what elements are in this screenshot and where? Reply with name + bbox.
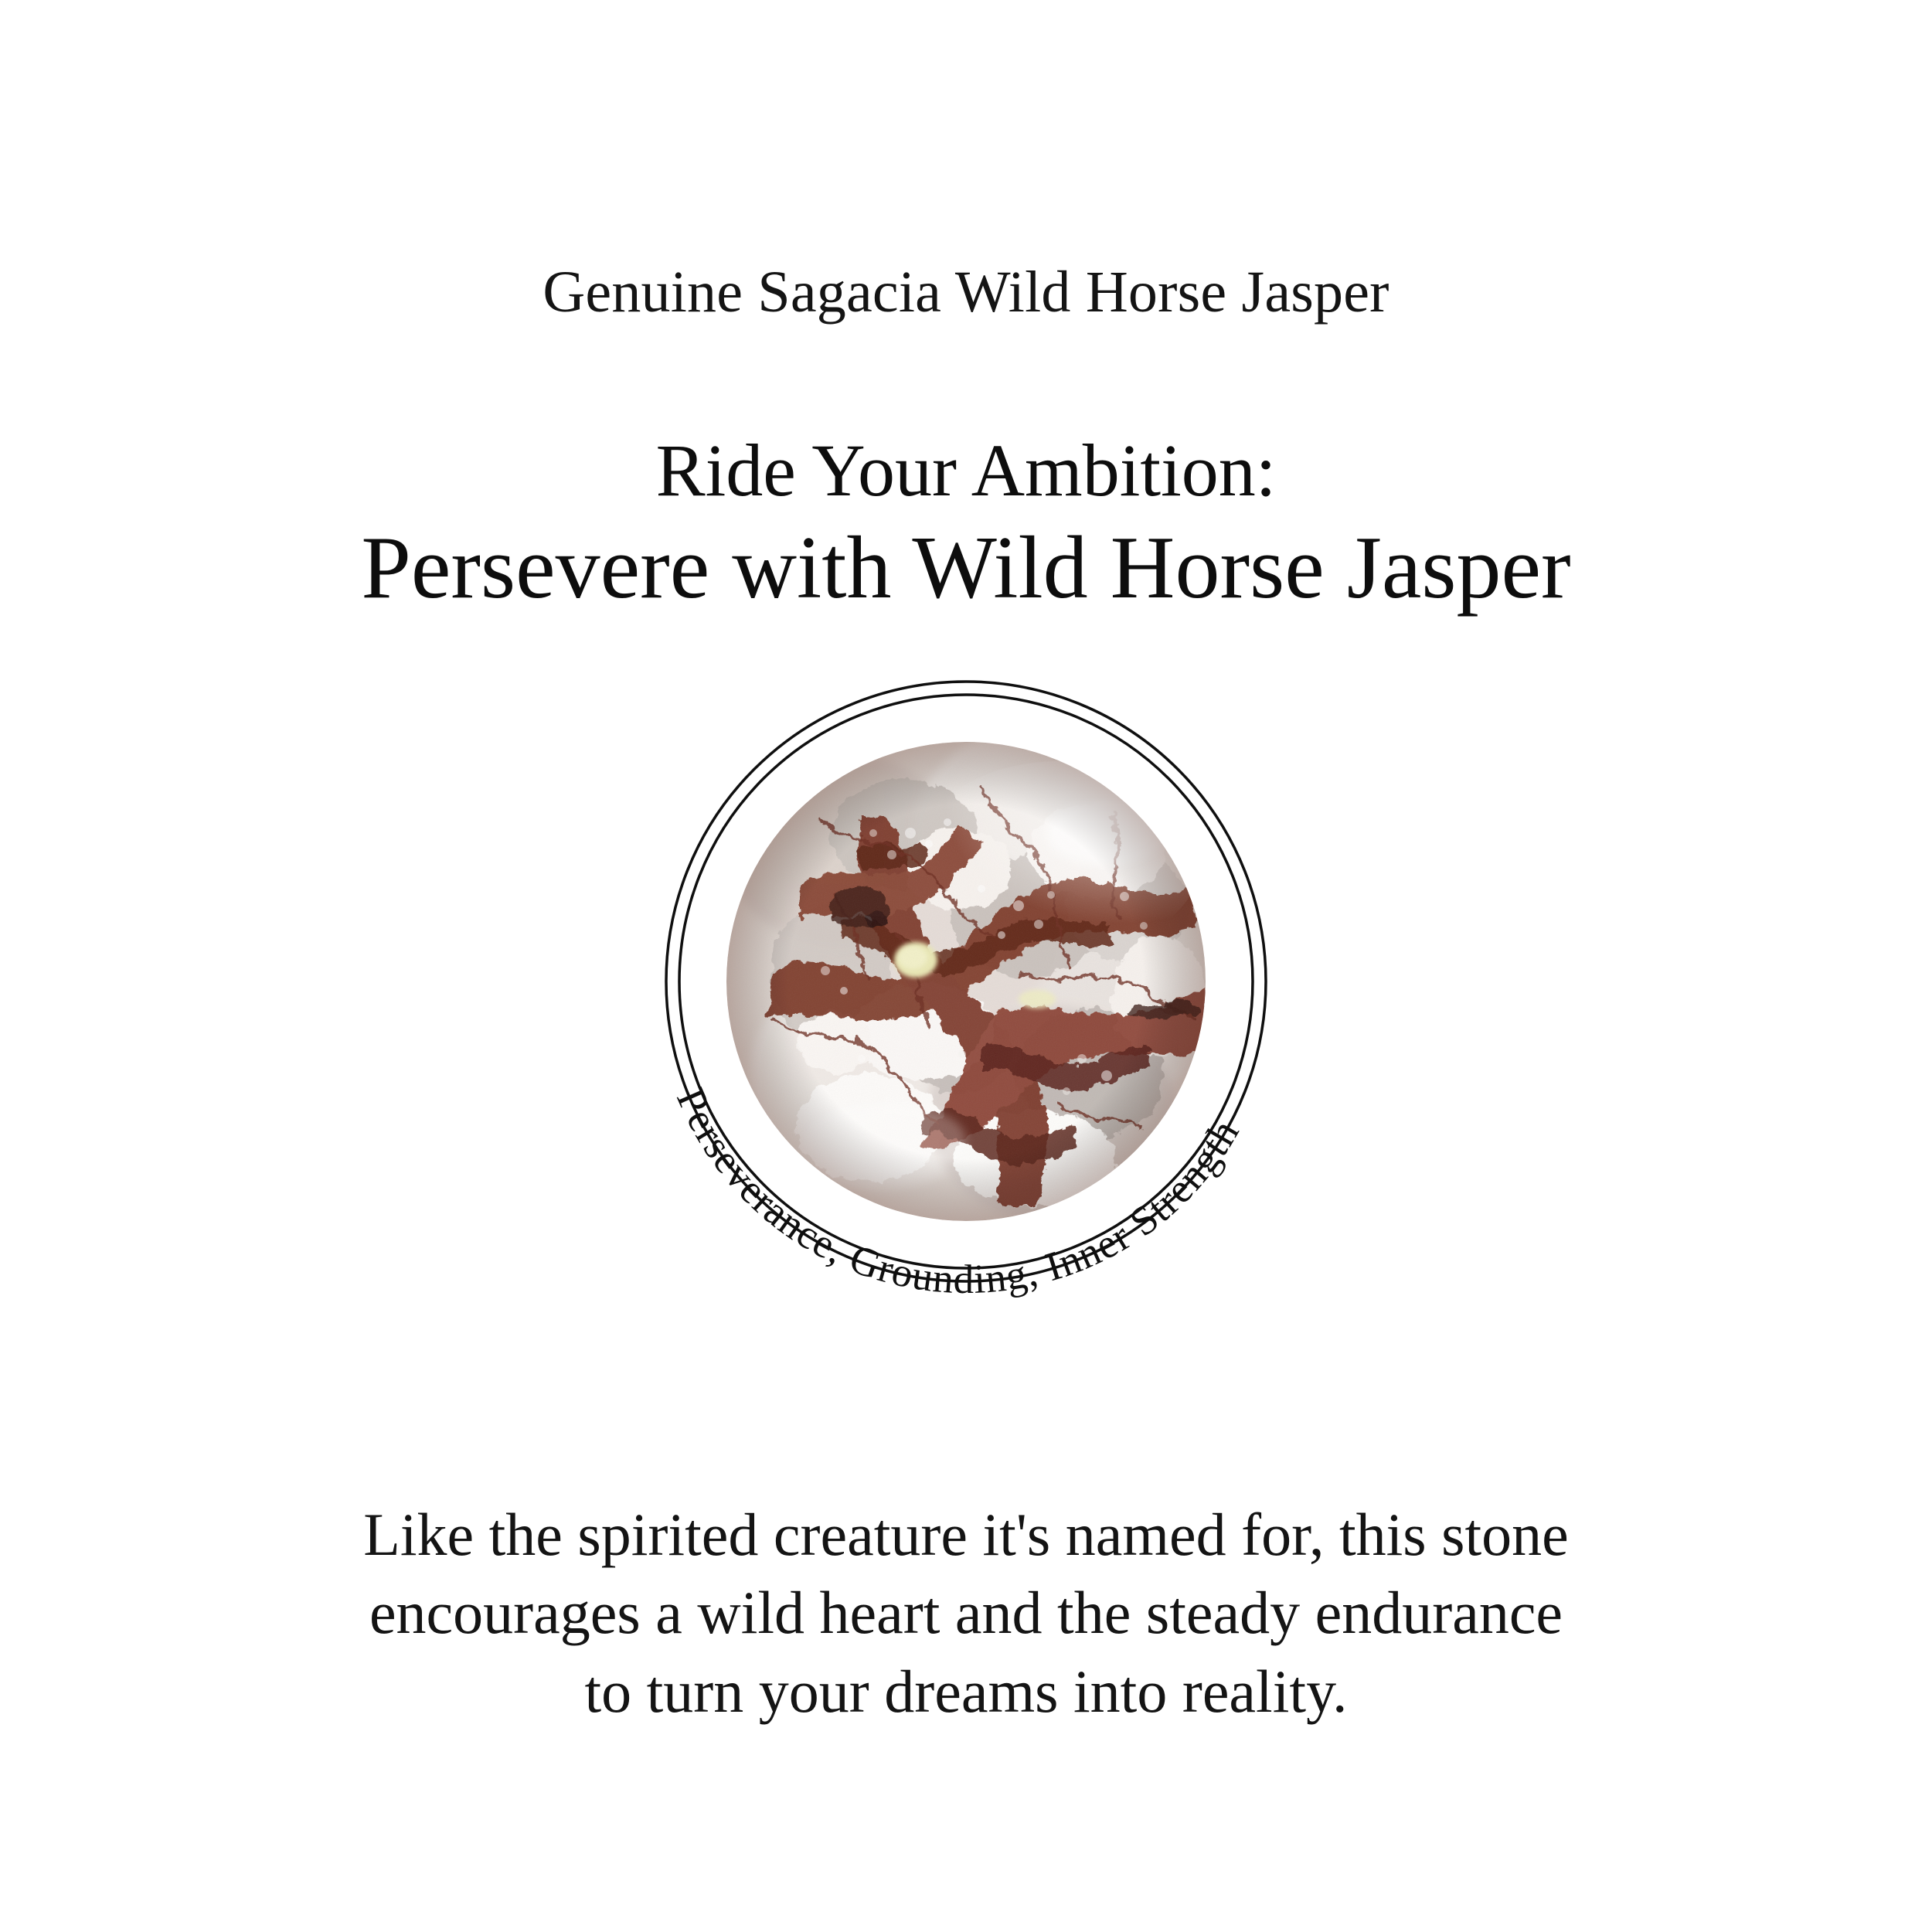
product-eyebrow-title: Genuine Sagacia Wild Horse Jasper xyxy=(0,259,1932,326)
stone-image xyxy=(726,742,1206,1221)
headline-line-2: Persevere with Wild Horse Jasper xyxy=(0,517,1932,620)
product-description: Like the spirited creature it's named fo… xyxy=(193,1495,1739,1730)
headline-line-1: Ride Your Ambition: xyxy=(0,429,1932,512)
description-line-1: Like the spirited creature it's named fo… xyxy=(193,1495,1739,1573)
description-line-2: encourages a wild heart and the steady e… xyxy=(193,1573,1739,1651)
product-graphic-page: Genuine Sagacia Wild Horse Jasper Ride Y… xyxy=(0,0,1932,1932)
page-title: Ride Your Ambition: Persevere with Wild … xyxy=(0,429,1932,620)
description-line-3: to turn your dreams into reality. xyxy=(193,1652,1739,1730)
stone-texture xyxy=(726,742,1206,1221)
